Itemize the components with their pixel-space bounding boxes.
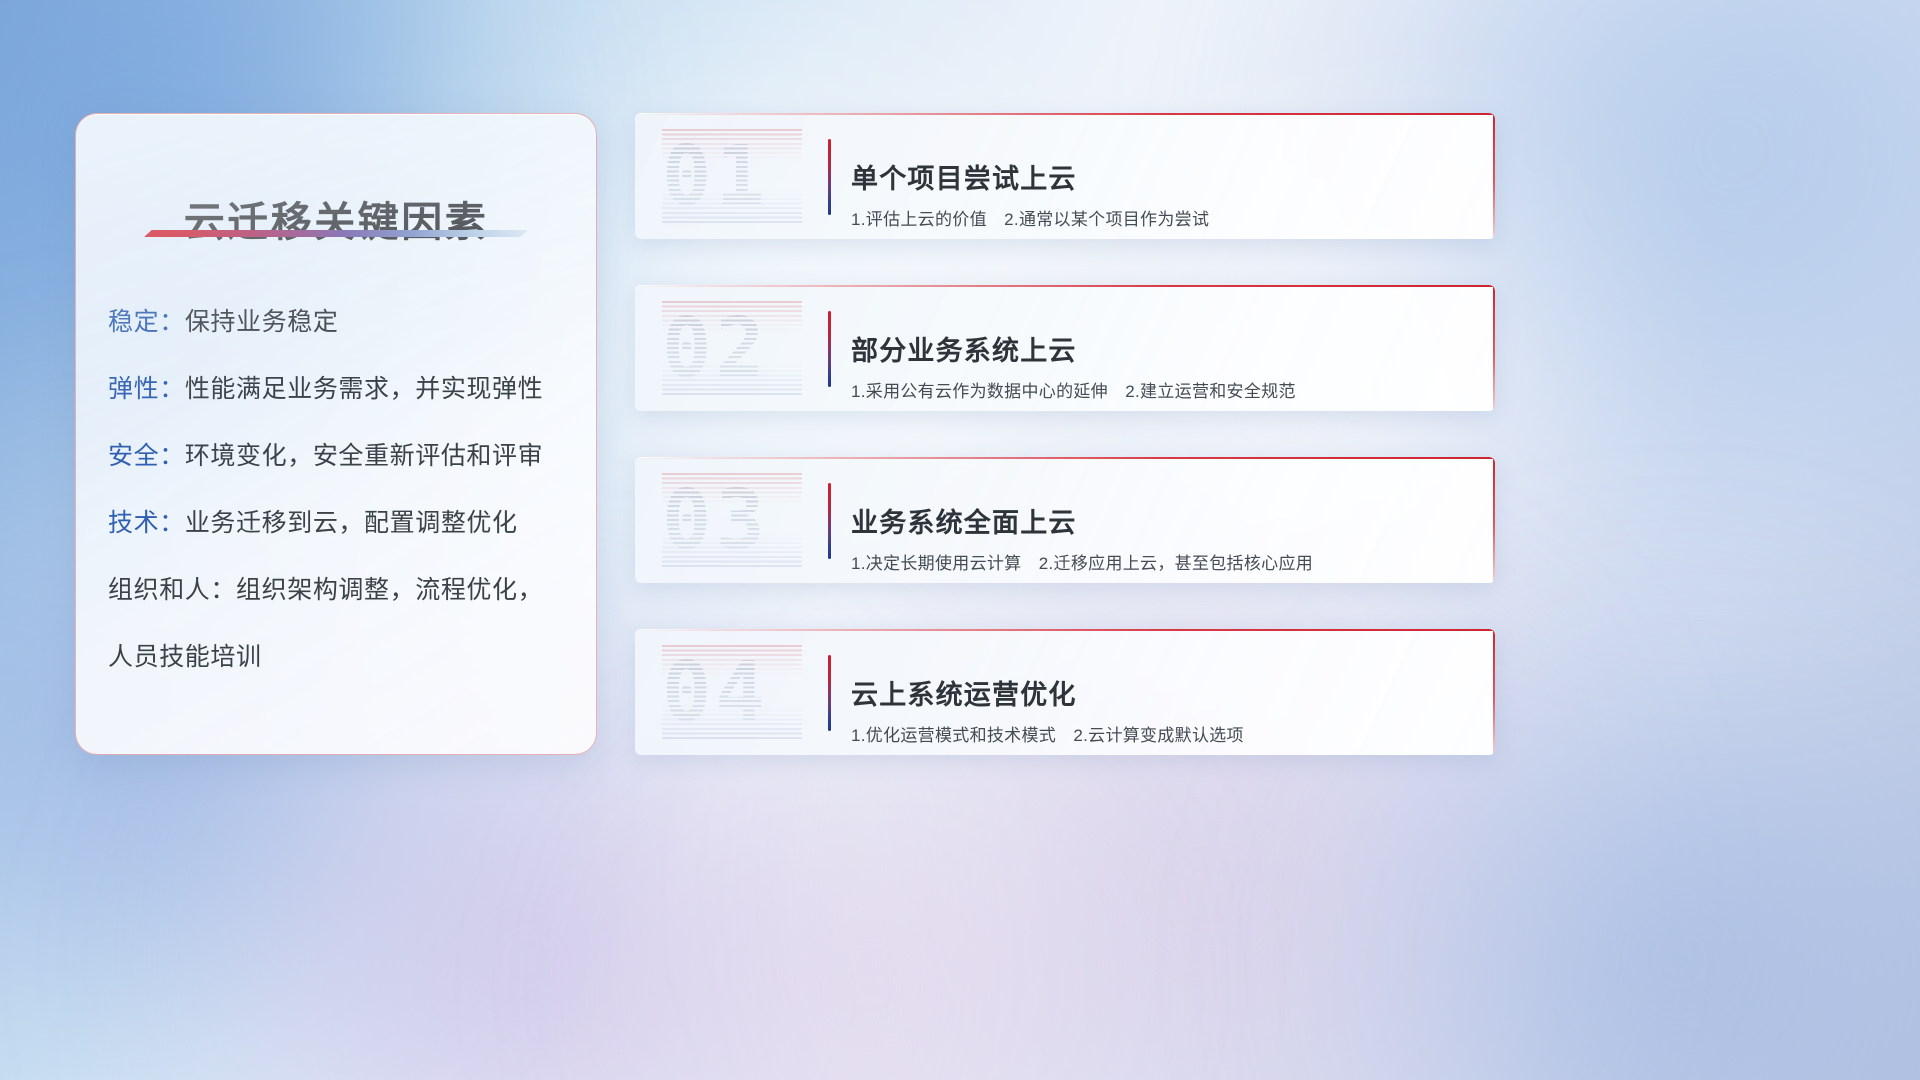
key-factor-item: 组织和人：组织架构调整，流程优化， <box>108 578 574 603</box>
key-factor-label: 稳定： <box>108 308 185 336</box>
key-factor-label: 组织和人： <box>108 576 236 604</box>
stage-description: 1.采用公有云作为数据中心的延伸 2.建立运营和安全规范 <box>851 377 1296 402</box>
key-factor-label: 技术： <box>108 509 185 537</box>
stage-card[interactable]: 01 单个项目尝试上云 1.评估上云的价值 2.通常以某个项目作为尝试 <box>635 113 1495 239</box>
stage-number-watermark: 02 <box>662 301 802 397</box>
key-factor-item: 技术：业务迁移到云，配置调整优化 <box>108 511 574 536</box>
stage-accent-bar <box>828 655 831 731</box>
stage-title: 业务系统全面上云 <box>851 501 1077 540</box>
key-factor-text: 环境变化，安全重新评估和评审 <box>185 442 543 470</box>
title-underline-rule <box>144 230 528 237</box>
stage-number-watermark: 04 <box>662 645 802 741</box>
key-factors-list: 稳定：保持业务稳定 弹性：性能满足业务需求，并实现弹性 安全：环境变化，安全重新… <box>108 310 574 670</box>
key-factor-item: 安全：环境变化，安全重新评估和评审 <box>108 444 574 469</box>
key-factor-item: 弹性：性能满足业务需求，并实现弹性 <box>108 377 574 402</box>
key-factor-text: 人员技能培训 <box>108 643 262 671</box>
key-factor-label: 弹性： <box>108 375 185 403</box>
key-factor-text: 性能满足业务需求，并实现弹性 <box>185 375 543 403</box>
stage-accent-bar <box>828 483 831 559</box>
key-factor-text: 组织架构调整，流程优化， <box>236 576 543 604</box>
stage-accent-bar <box>828 139 831 215</box>
key-factor-item-continuation: 人员技能培训 <box>108 645 574 670</box>
stage-title: 部分业务系统上云 <box>851 329 1077 368</box>
stage-number-watermark: 03 <box>662 473 802 569</box>
key-factors-title: 云迁移关键因素 <box>76 188 596 248</box>
stage-card[interactable]: 03 业务系统全面上云 1.决定长期使用云计算 2.迁移应用上云，甚至包括核心应… <box>635 457 1495 583</box>
key-factor-label: 安全： <box>108 442 185 470</box>
stage-card[interactable]: 04 云上系统运营优化 1.优化运营模式和技术模式 2.云计算变成默认选项 <box>635 629 1495 755</box>
key-factor-text: 保持业务稳定 <box>185 308 339 336</box>
stage-card[interactable]: 02 部分业务系统上云 1.采用公有云作为数据中心的延伸 2.建立运营和安全规范 <box>635 285 1495 411</box>
stage-accent-bar <box>828 311 831 387</box>
stage-title: 单个项目尝试上云 <box>851 157 1077 196</box>
stage-number-watermark: 01 <box>662 129 802 225</box>
key-factor-item: 稳定：保持业务稳定 <box>108 310 574 335</box>
stage-description: 1.决定长期使用云计算 2.迁移应用上云，甚至包括核心应用 <box>851 549 1313 574</box>
slide-stage: 云迁移关键因素 稳定：保持业务稳定 弹性：性能满足业务需求，并实现弹性 安全：环… <box>0 0 1920 1080</box>
key-factor-text: 业务迁移到云，配置调整优化 <box>185 509 518 537</box>
stage-description: 1.优化运营模式和技术模式 2.云计算变成默认选项 <box>851 721 1244 746</box>
stage-description: 1.评估上云的价值 2.通常以某个项目作为尝试 <box>851 205 1209 230</box>
stage-title: 云上系统运营优化 <box>851 673 1077 712</box>
key-factors-card: 云迁移关键因素 稳定：保持业务稳定 弹性：性能满足业务需求，并实现弹性 安全：环… <box>75 113 597 755</box>
